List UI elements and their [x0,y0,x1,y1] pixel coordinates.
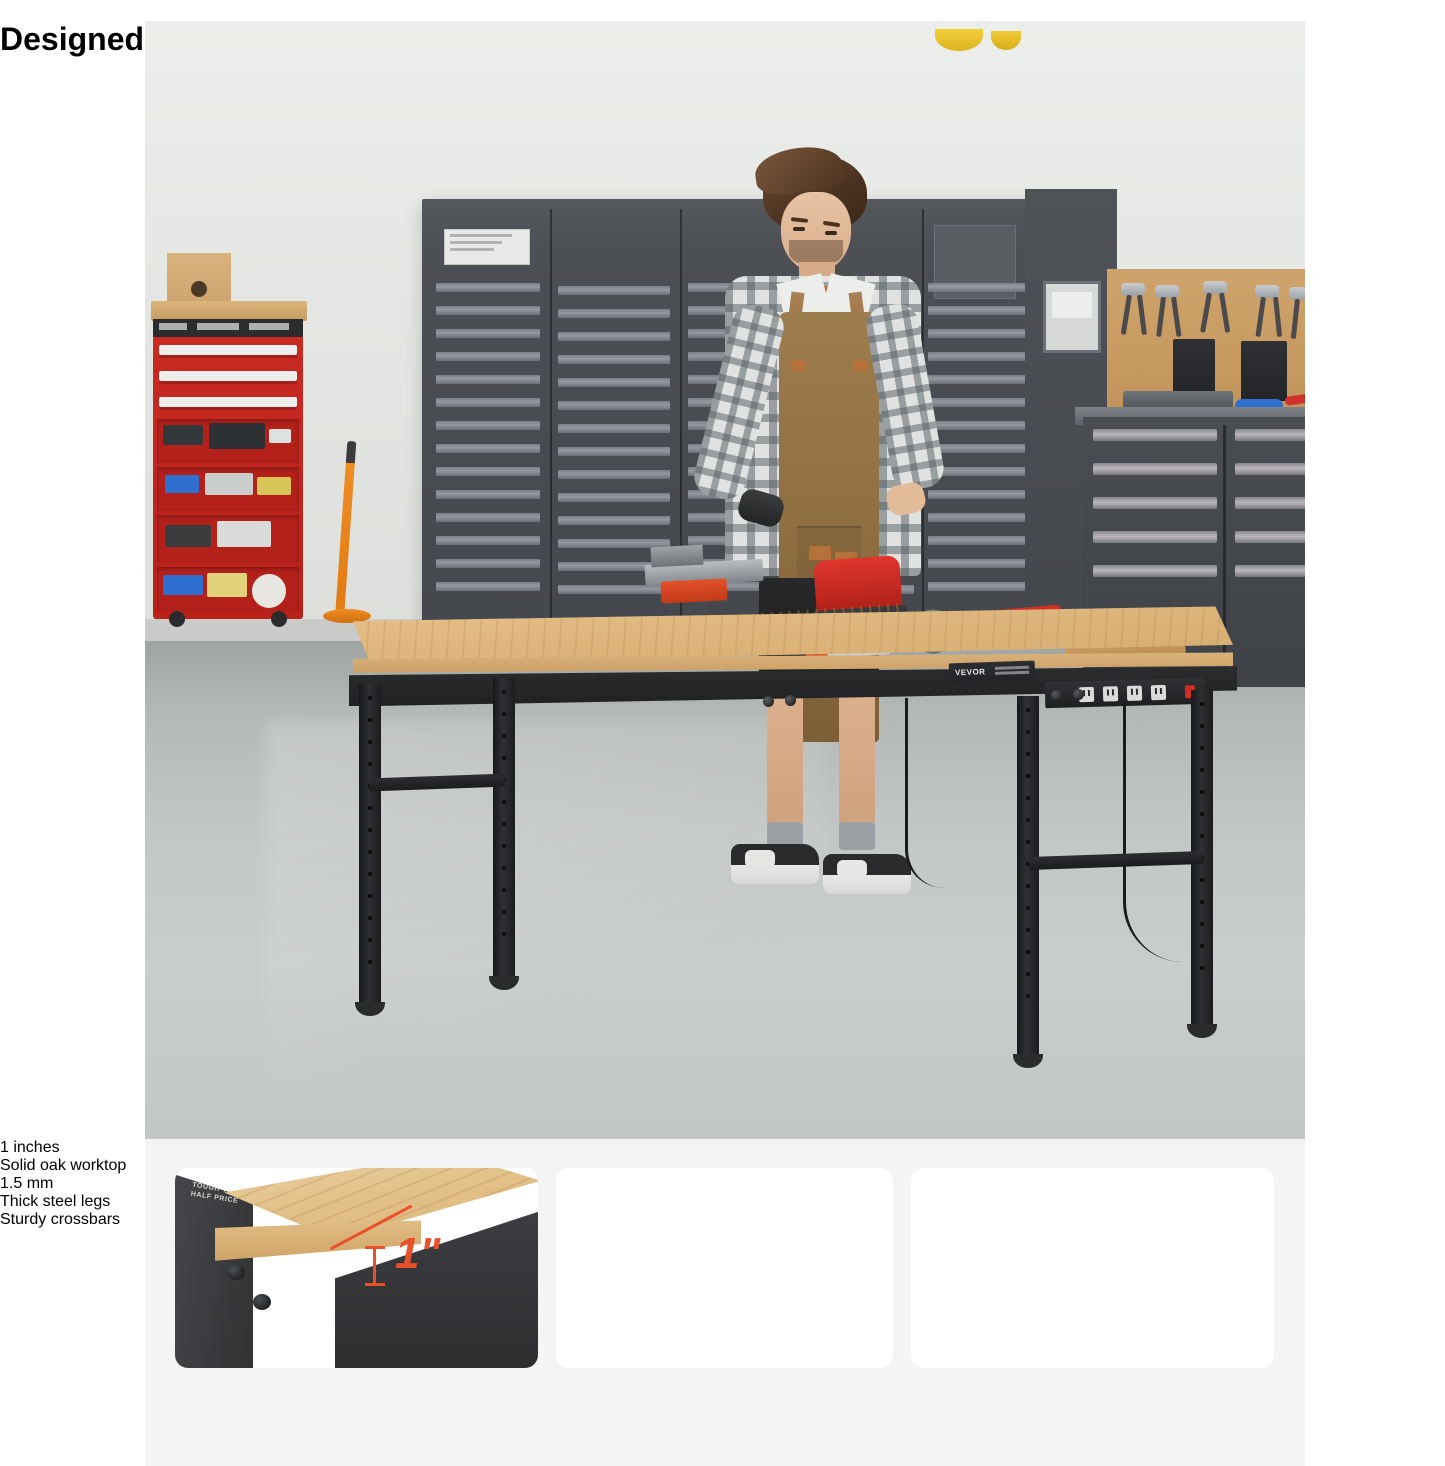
leg-back-left [493,678,515,978]
tool-cord [905,698,944,888]
leveling-foot [489,976,519,990]
product-feature-page: VEVOR [0,21,1445,1466]
cart-bin [157,467,299,511]
leveling-foot [1013,1054,1043,1068]
leg-front-right [1017,696,1039,1056]
feature-strip: TOUGH TOOLS HALF PRICE 1" [0,1139,1445,1466]
feature-card-worktop[interactable]: TOUGH TOOLS HALF PRICE 1" [175,1168,538,1368]
feature-card-legs[interactable] [556,1168,893,1368]
power-cord [1123,702,1186,962]
tool-case [1173,339,1215,399]
leveling-foot [1187,1024,1217,1038]
cart-wood-top [151,301,307,321]
steel-leg-closeup [684,1168,744,1368]
hero-photo: VEVOR [145,21,1305,1139]
tool-case [1241,341,1287,401]
callout-value: 1" [395,1232,440,1276]
feature-card-crossbars[interactable] [911,1168,1274,1368]
red-tool-cart [153,319,303,619]
leg-front-left [359,684,381,1004]
leveling-foot [355,1002,385,1016]
cart-bin [157,419,299,463]
cart-bin [157,515,299,563]
cart-header [153,319,303,337]
cabinet-label [444,229,530,265]
vevor-logo-text: VEVOR [955,668,986,678]
bench-vise [645,544,765,608]
framed-note-icon [1043,281,1101,353]
workbench: VEVOR [345,606,1245,1116]
vevor-brand-plate: VEVOR [949,661,1036,684]
crossbar [369,774,505,792]
